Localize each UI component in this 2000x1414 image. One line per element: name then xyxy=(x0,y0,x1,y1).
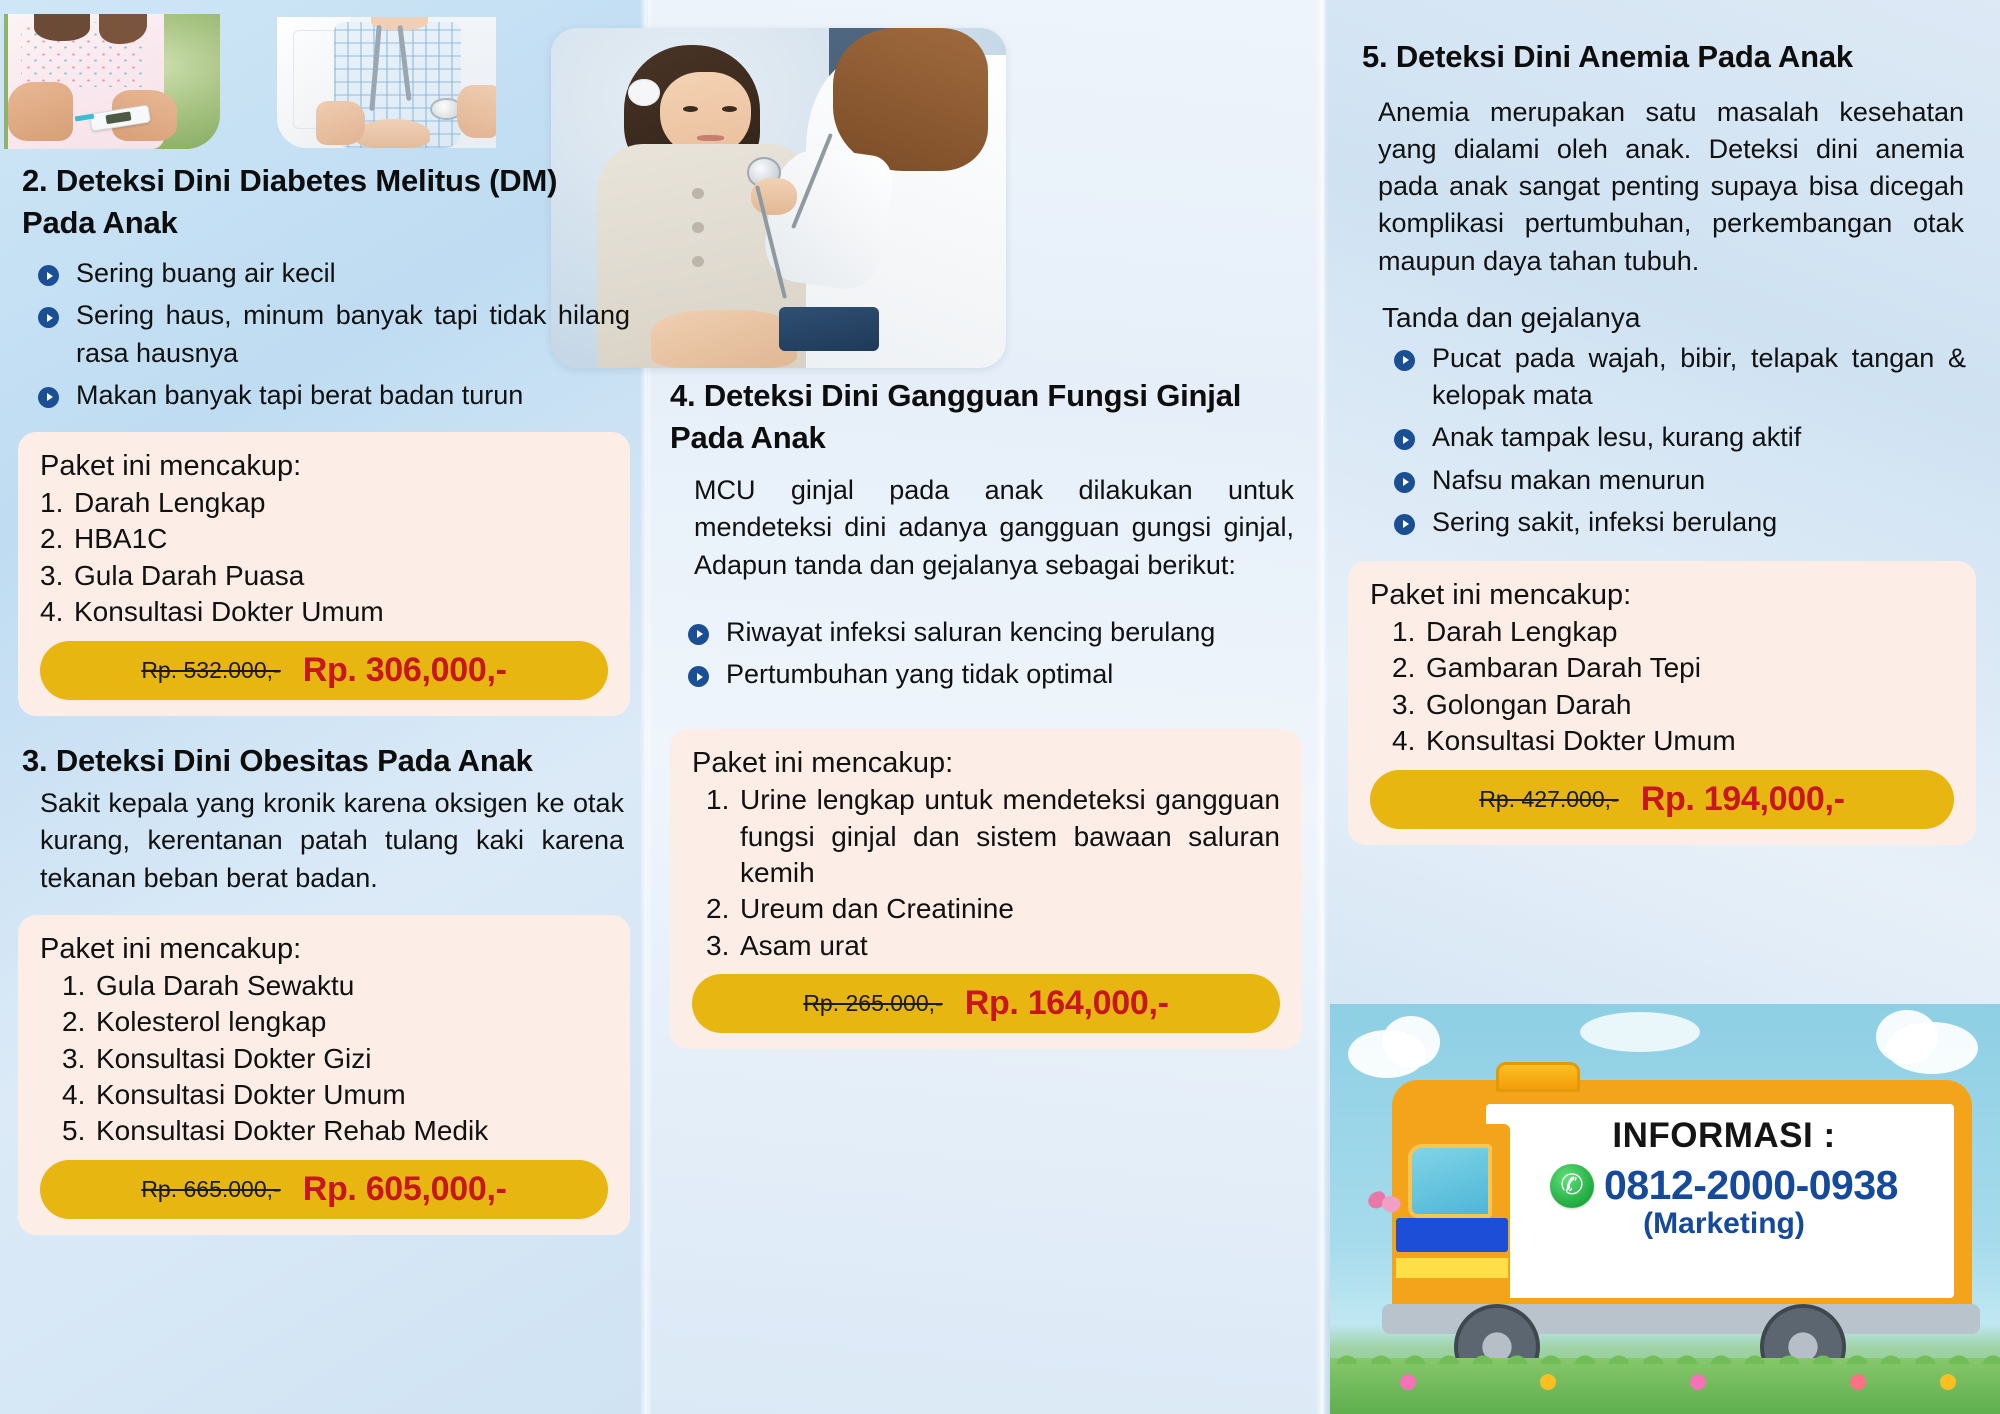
list-item: 2. Gambaran Darah Tepi xyxy=(1392,650,1954,686)
list-item-number: 1. xyxy=(706,782,740,891)
list-item-label: Ureum dan Creatinine xyxy=(740,891,1280,927)
bullet-arrow-icon xyxy=(38,265,59,286)
list-item: 1. Darah Lengkap xyxy=(1392,614,1954,650)
contact-info-block: INFORMASI : 0812-2000-0938 (Marketing) xyxy=(1506,1116,1942,1241)
list-item: 5. Konsultasi Dokter Rehab Medik xyxy=(62,1113,608,1149)
list-item-label: Asam urat xyxy=(740,928,1280,964)
butterfly-icon xyxy=(1368,1192,1402,1218)
list-item-label: Pucat pada wajah, bibir, telapak tangan … xyxy=(1432,343,1966,410)
list-item: 3. Gula Darah Puasa xyxy=(40,558,608,594)
obesity-package-card: Paket ini mencakup: 1. Gula Darah Sewakt… xyxy=(18,915,630,1235)
bullet-arrow-icon xyxy=(1394,429,1415,450)
diabetes-package-card: Paket ini mencakup: 1. Darah Lengkap 2. … xyxy=(18,432,630,716)
list-item-label: HBA1C xyxy=(74,521,608,557)
flower-decoration xyxy=(1850,1374,1866,1390)
list-item: 4. Konsultasi Dokter Umum xyxy=(62,1077,608,1113)
list-item-number: 2. xyxy=(62,1004,96,1040)
package-heading: Paket ini mencakup: xyxy=(692,747,1280,780)
ambulance-window xyxy=(1408,1144,1492,1218)
list-item-label: Gambaran Darah Tepi xyxy=(1426,650,1954,686)
list-item-label: Darah Lengkap xyxy=(1426,614,1954,650)
list-item-label: Konsultasi Dokter Umum xyxy=(74,594,608,630)
left-column: 2. Deteksi Dini Diabetes Melitus (DM) Pa… xyxy=(0,160,648,1235)
diabetes-symptom-list: Sering buang air kecil Sering haus, minu… xyxy=(36,255,630,414)
bullet-arrow-icon xyxy=(688,624,709,645)
list-item: 3. Golongan Darah xyxy=(1392,687,1954,723)
ambulance-siren-light xyxy=(1496,1062,1580,1092)
list-item-label: Makan banyak tapi berat badan turun xyxy=(76,380,523,410)
list-item: 1. Gula Darah Sewaktu xyxy=(62,968,608,1004)
ambulance-contact-banner: INFORMASI : 0812-2000-0938 (Marketing) xyxy=(1330,1004,2000,1414)
bullet-arrow-icon xyxy=(1394,472,1415,493)
list-item: 4. Konsultasi Dokter Umum xyxy=(1392,723,1954,759)
list-item-number: 1. xyxy=(1392,614,1426,650)
list-item-number: 2. xyxy=(40,521,74,557)
brochure-page: 2. Deteksi Dini Diabetes Melitus (DM) Pa… xyxy=(0,0,2000,1414)
anemia-description: Anemia merupakan satu masalah kesehatan … xyxy=(1378,94,1964,280)
list-item-number: 3. xyxy=(40,558,74,594)
package-item-list: 1. Darah Lengkap 2. HBA1C 3. Gula Darah … xyxy=(40,485,608,631)
whatsapp-icon[interactable] xyxy=(1550,1164,1594,1208)
contact-role-label: (Marketing) xyxy=(1506,1207,1942,1241)
diabetes-price-badge: Rp. 532.000,- Rp. 306,000,- xyxy=(40,641,608,700)
discounted-price: Rp. 164,000,- xyxy=(965,984,1169,1023)
list-item: Makan banyak tapi berat badan turun xyxy=(36,377,630,414)
anemia-symptoms-heading: Tanda dan gejalanya xyxy=(1382,302,1976,334)
kidney-description: MCU ginjal pada anak dilakukan untuk men… xyxy=(694,472,1294,584)
section-3-title: 3. Deteksi Dini Obesitas Pada Anak xyxy=(22,740,630,782)
package-item-list: 1. Darah Lengkap 2. Gambaran Darah Tepi … xyxy=(1392,614,1954,760)
list-item: 2. HBA1C xyxy=(40,521,608,557)
list-item: Pertumbuhan yang tidak optimal xyxy=(686,656,1294,693)
list-item-label: Gula Darah Puasa xyxy=(74,558,608,594)
package-heading: Paket ini mencakup: xyxy=(40,933,608,966)
list-item-label: Sering sakit, infeksi berulang xyxy=(1432,507,1777,537)
list-item-number: 4. xyxy=(40,594,74,630)
kidney-symptom-list: Riwayat infeksi saluran kencing berulang… xyxy=(686,614,1294,694)
list-item-number: 3. xyxy=(62,1041,96,1077)
cloud-decoration xyxy=(1580,1012,1700,1052)
list-item-label: Sering haus, minum banyak tapi tidak hil… xyxy=(76,300,630,367)
list-item-label: Konsultasi Dokter Gizi xyxy=(96,1041,608,1077)
list-item-number: 3. xyxy=(1392,687,1426,723)
bullet-arrow-icon xyxy=(1394,514,1415,535)
middle-column: 4. Deteksi Dini Gangguan Fungsi Ginjal P… xyxy=(648,375,1324,1049)
section-2-title: 2. Deteksi Dini Diabetes Melitus (DM) Pa… xyxy=(22,160,630,243)
list-item: 2. Ureum dan Creatinine xyxy=(706,891,1280,927)
list-item-number: 4. xyxy=(1392,723,1426,759)
list-item: Sering sakit, infeksi berulang xyxy=(1392,504,1966,541)
kidney-package-card: Paket ini mencakup: 1. Urine lengkap unt… xyxy=(670,729,1302,1049)
list-item-label: Sering buang air kecil xyxy=(76,258,336,288)
list-item: 3. Konsultasi Dokter Gizi xyxy=(62,1041,608,1077)
flower-decoration xyxy=(1940,1374,1956,1390)
list-item: Pucat pada wajah, bibir, telapak tangan … xyxy=(1392,340,1966,415)
list-item: Riwayat infeksi saluran kencing berulang xyxy=(686,614,1294,651)
ambulance-yellow-stripe xyxy=(1396,1258,1508,1278)
section-5-title: 5. Deteksi Dini Anemia Pada Anak xyxy=(1362,36,1976,78)
bullet-arrow-icon xyxy=(1394,350,1415,371)
list-item-label: Konsultasi Dokter Umum xyxy=(96,1077,608,1113)
list-item-number: 1. xyxy=(62,968,96,1004)
anemia-price-badge: Rp. 427.000,- Rp. 194,000,- xyxy=(1370,770,1954,829)
list-item-number: 4. xyxy=(62,1077,96,1113)
list-item-label: Pertumbuhan yang tidak optimal xyxy=(726,659,1113,689)
contact-title: INFORMASI : xyxy=(1506,1116,1942,1156)
right-column: 5. Deteksi Dini Anemia Pada Anak Anemia … xyxy=(1324,36,2000,845)
cloud-decoration xyxy=(1876,1010,1938,1064)
child-glucose-meter-photo xyxy=(4,14,220,149)
list-item-label: Konsultasi Dokter Rehab Medik xyxy=(96,1113,608,1149)
obesity-description: Sakit kepala yang kronik karena oksigen … xyxy=(40,785,624,897)
child-stethoscope-abdomen-photo xyxy=(277,17,496,148)
original-price: Rp. 532.000,- xyxy=(141,657,280,684)
flower-decoration xyxy=(1540,1374,1556,1390)
package-item-list: 1. Gula Darah Sewaktu 2. Kolesterol leng… xyxy=(62,968,608,1150)
list-item: Sering haus, minum banyak tapi tidak hil… xyxy=(36,297,630,372)
discounted-price: Rp. 194,000,- xyxy=(1641,780,1845,819)
list-item: 1. Darah Lengkap xyxy=(40,485,608,521)
original-price: Rp. 665.000,- xyxy=(141,1176,280,1203)
package-item-list: 1. Urine lengkap untuk mendeteksi ganggu… xyxy=(706,782,1280,964)
bullet-arrow-icon xyxy=(688,666,709,687)
list-item-label: Golongan Darah xyxy=(1426,687,1954,723)
list-item-label: Gula Darah Sewaktu xyxy=(96,968,608,1004)
list-item: Nafsu makan menurun xyxy=(1392,462,1966,499)
original-price: Rp. 265.000,- xyxy=(803,990,942,1017)
list-item: Anak tampak lesu, kurang aktif xyxy=(1392,419,1966,456)
list-item-number: 5. xyxy=(62,1113,96,1149)
list-item-label: Riwayat infeksi saluran kencing berulang xyxy=(726,617,1215,647)
list-item-number: 2. xyxy=(1392,650,1426,686)
anemia-package-card: Paket ini mencakup: 1. Darah Lengkap 2. … xyxy=(1348,561,1976,845)
package-heading: Paket ini mencakup: xyxy=(40,450,608,483)
list-item: 4. Konsultasi Dokter Umum xyxy=(40,594,608,630)
list-item-label: Konsultasi Dokter Umum xyxy=(1426,723,1954,759)
list-item: 1. Urine lengkap untuk mendeteksi ganggu… xyxy=(706,782,1280,891)
list-item-label: Nafsu makan menurun xyxy=(1432,465,1705,495)
flower-decoration xyxy=(1690,1374,1706,1390)
original-price: Rp. 427.000,- xyxy=(1479,786,1618,813)
flower-decoration xyxy=(1400,1374,1416,1390)
obesity-price-badge: Rp. 665.000,- Rp. 605,000,- xyxy=(40,1160,608,1219)
list-item-number: 1. xyxy=(40,485,74,521)
cloud-decoration xyxy=(1382,1016,1440,1068)
list-item: 2. Kolesterol lengkap xyxy=(62,1004,608,1040)
bullet-arrow-icon xyxy=(38,307,59,328)
grass-decoration xyxy=(1330,1358,2000,1414)
section-4-title: 4. Deteksi Dini Gangguan Fungsi Ginjal P… xyxy=(670,375,1302,458)
kidney-price-badge: Rp. 265.000,- Rp. 164,000,- xyxy=(692,974,1280,1033)
list-item-label: Urine lengkap untuk mendeteksi gangguan … xyxy=(740,782,1280,891)
list-item-label: Darah Lengkap xyxy=(74,485,608,521)
ambulance-blue-stripe xyxy=(1396,1218,1508,1252)
whatsapp-contact-row[interactable]: 0812-2000-0938 xyxy=(1506,1162,1942,1209)
list-item-label: Anak tampak lesu, kurang aktif xyxy=(1432,422,1801,452)
discounted-price: Rp. 605,000,- xyxy=(303,1170,507,1209)
list-item-number: 2. xyxy=(706,891,740,927)
list-item: Sering buang air kecil xyxy=(36,255,630,292)
list-item-number: 3. xyxy=(706,928,740,964)
discounted-price: Rp. 306,000,- xyxy=(303,651,507,690)
anemia-symptom-list: Pucat pada wajah, bibir, telapak tangan … xyxy=(1392,340,1966,541)
package-heading: Paket ini mencakup: xyxy=(1370,579,1954,612)
list-item-label: Kolesterol lengkap xyxy=(96,1004,608,1040)
contact-phone-number[interactable]: 0812-2000-0938 xyxy=(1604,1162,1898,1209)
list-item: 3. Asam urat xyxy=(706,928,1280,964)
bullet-arrow-icon xyxy=(38,387,59,408)
